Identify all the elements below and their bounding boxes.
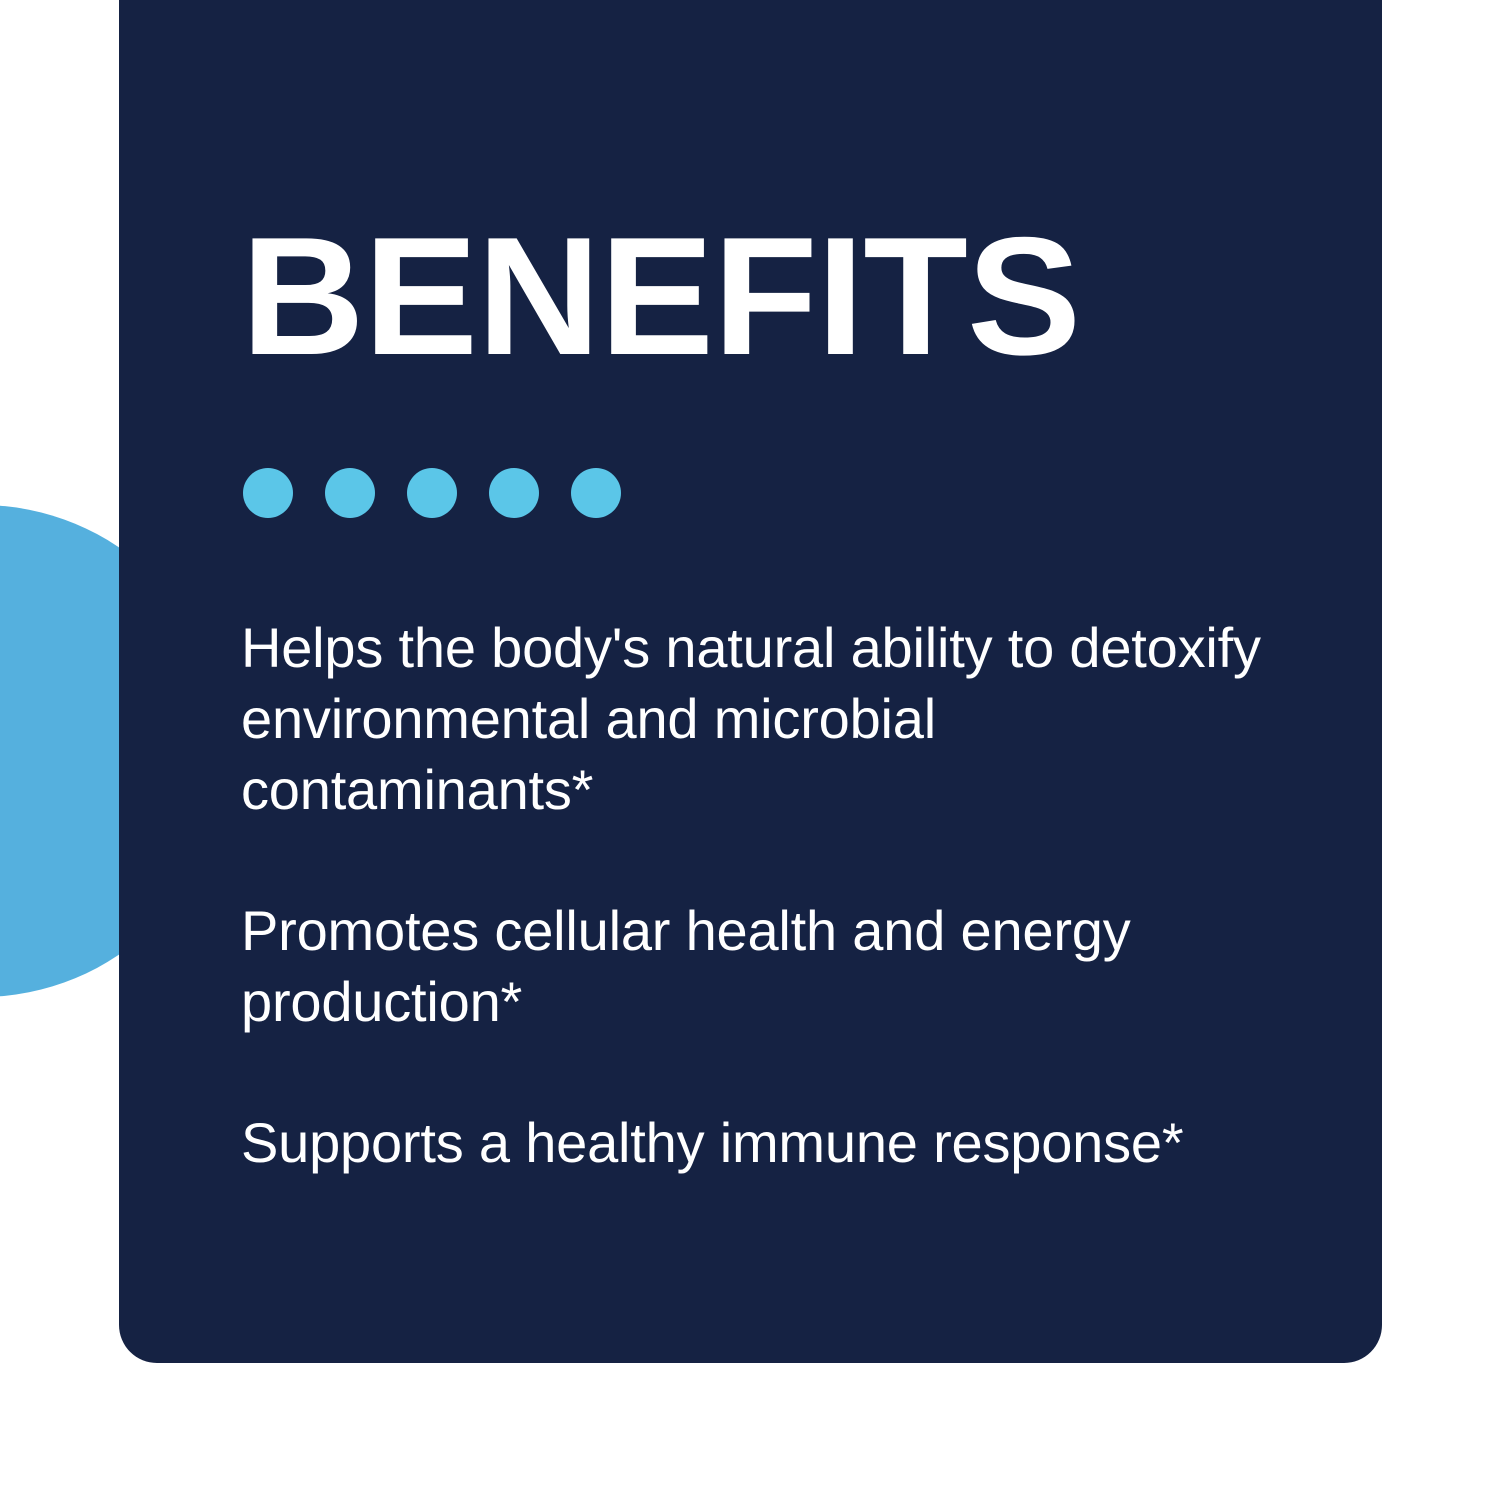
list-item: Helps the body's natural ability to deto… [241,612,1271,825]
dot-icon-5 [571,468,621,518]
dot-icon-2 [325,468,375,518]
list-item: Promotes cellular health and energy prod… [241,895,1271,1037]
dot-icon-4 [489,468,539,518]
dot-icon-3 [407,468,457,518]
list-item: Supports a healthy immune response* [241,1107,1271,1178]
benefits-card-canvas: BENEFITS Helps the body's natural abilit… [0,0,1500,1500]
dot-icon-1 [243,468,293,518]
card-content: BENEFITS Helps the body's natural abilit… [241,0,1322,1178]
page-title: BENEFITS [241,0,1344,380]
benefits-list: Helps the body's natural ability to deto… [241,612,1322,1178]
dot-divider [243,468,1322,518]
benefits-card: BENEFITS Helps the body's natural abilit… [119,0,1382,1363]
